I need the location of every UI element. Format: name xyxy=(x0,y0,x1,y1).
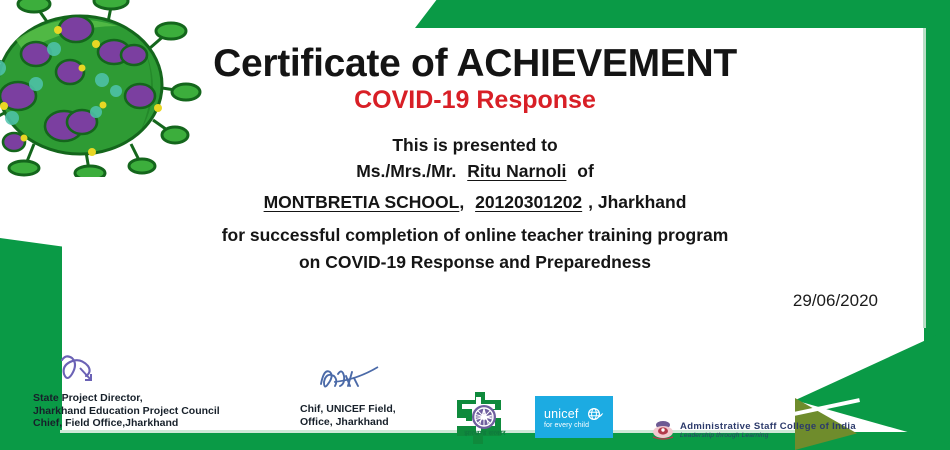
reason-line-2: on COVID-19 Response and Preparedness xyxy=(0,252,950,273)
unicef-wordmark: unicef xyxy=(544,407,579,421)
jharkhand-government-logo-icon xyxy=(455,390,513,446)
school-id-field[interactable]: 20120301202 xyxy=(469,192,588,212)
of-label: of xyxy=(577,161,594,181)
unicef-globe-icon xyxy=(588,408,604,420)
comma-separator-1: , xyxy=(459,192,464,212)
issue-date: 29/06/2020 xyxy=(0,291,878,311)
school-line: MONTBRETIA SCHOOL, 20120301202, Jharkhan… xyxy=(0,192,950,213)
salutation-label: Ms./Mrs./Mr. xyxy=(356,161,456,181)
state-label: , Jharkhand xyxy=(588,192,686,212)
presented-to-label: This is presented to xyxy=(0,135,950,156)
signature-1-line-1: State Project Director, xyxy=(33,392,220,405)
signature-mark-2-icon xyxy=(318,364,380,402)
recipient-name-field[interactable]: Ritu Narnoli xyxy=(461,161,572,181)
unicef-logo: unicef for every child xyxy=(535,396,613,438)
certificate-subtitle: COVID-19 Response xyxy=(0,86,950,115)
signature-block-1: State Project Director, Jharkhand Educat… xyxy=(33,392,220,430)
reason-line-1: for successful completion of online teac… xyxy=(0,225,950,246)
signature-block-2: Chif, UNICEF Field, Office, Jharkhand xyxy=(300,403,396,428)
signature-2-line-1: Chif, UNICEF Field, xyxy=(300,403,396,416)
asci-emblem-icon xyxy=(650,420,676,440)
recipient-line: Ms./Mrs./Mr. Ritu Narnoli of xyxy=(0,161,950,182)
asci-title: Administrative Staff College of India xyxy=(680,421,856,432)
signature-1-line-3: Chief, Field Office,Jharkhand xyxy=(33,417,220,430)
certificate-page: Certificate of ACHIEVEMENT COVID-19 Resp… xyxy=(0,0,950,450)
certificate-title: Certificate of ACHIEVEMENT xyxy=(0,42,950,86)
signature-2-line-2: Office, Jharkhand xyxy=(300,416,396,429)
jharkhand-logo-caption: झारखण्ड सरकार xyxy=(450,428,520,437)
asci-tagline: Leadership through Learning xyxy=(680,432,769,439)
frame-top-band xyxy=(415,0,950,28)
signature-1-line-2: Jharkhand Education Project Council xyxy=(33,405,220,418)
signature-mark-1-icon xyxy=(58,352,98,393)
school-name-field[interactable]: MONTBRETIA SCHOOL xyxy=(264,192,460,212)
asci-logo: Administrative Staff College of India Le… xyxy=(650,420,676,442)
unicef-tagline: for every child xyxy=(544,422,589,429)
